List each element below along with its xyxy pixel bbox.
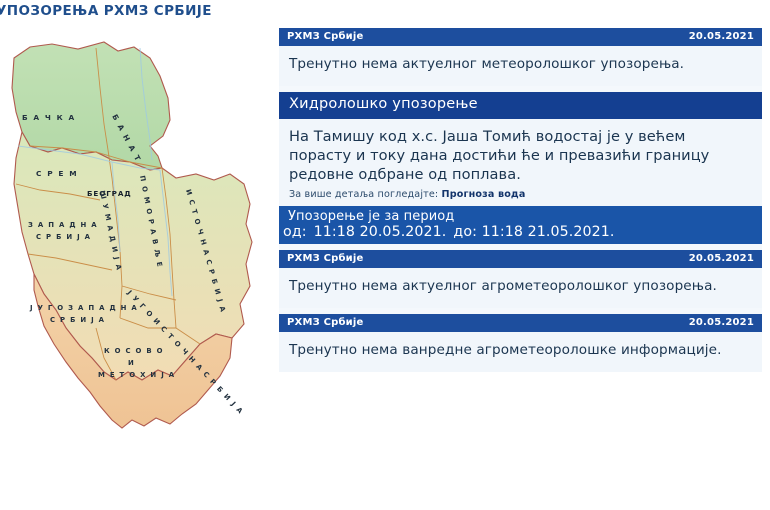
meteo-warning-text: Тренутно нема актуелног метеоролошког уп… [279,46,762,86]
page-title: УПОЗОРЕЊА РХМЗ СРБИЈЕ [0,3,212,19]
hydro-period-heading: Упозорење је за период [283,209,754,224]
meteo-warning-block: РХМЗ Србије 20.05.2021 Тренутно нема акт… [279,28,762,86]
map-label-zapadna-srbija-line2: С Р Б И Ј А [36,233,91,241]
agrometeo-date: 20.05.2021 [689,253,754,264]
agrometeo-warning-block: РХМЗ Србије 20.05.2021 Тренутно нема акт… [279,250,762,308]
map-label-srem: С Р Е М [36,169,78,178]
hydro-warning-block: Хидролошко упозорење На Тамишу код х.с. … [279,92,762,244]
meteo-date: 20.05.2021 [689,31,754,42]
meteo-source-label: РХМЗ Србије [287,31,363,42]
agroinfo-source-label: РХМЗ Србије [287,317,363,328]
map-label-backa: Б А Ч К А [22,113,76,122]
hydro-period-box: Упозорење је за период од:11:18 20.05.20… [279,206,762,245]
map-label-kosovo-line2: И [128,359,135,367]
agroinfo-date: 20.05.2021 [689,317,754,328]
map-label-jugozapadna-srbija-line2: С Р Б И Ј А [50,316,105,324]
serbia-regions-map: Б А Ч К А Б А Н А Т С Р Е М БЕОГРАД З А … [0,28,272,438]
meteo-header-bar: РХМЗ Србије 20.05.2021 [279,28,762,46]
hydro-period-to-value: 11:18 21.05.2021. [482,224,615,240]
agrometeo-header-bar: РХМЗ Србије 20.05.2021 [279,250,762,268]
hydro-period-to-label: до: [453,224,477,240]
hydro-period-range: од:11:18 20.05.2021.до: 11:18 21.05.2021… [283,224,754,241]
agroinfo-header-bar: РХМЗ Србије 20.05.2021 [279,314,762,332]
hydro-warning-text: На Тамишу код х.с. Јаша Томић водостај ј… [279,119,762,187]
warnings-panel: РХМЗ Србије 20.05.2021 Тренутно нема акт… [279,28,762,372]
map-label-kosovo-line3: М Е Т О Х И Ј А [98,371,175,379]
agroinfo-block: РХМЗ Србије 20.05.2021 Тренутно нема ван… [279,314,762,372]
agrometeo-warning-text: Тренутно нема актуелног агрометеоролошко… [279,268,762,308]
map-label-zapadna-srbija-line1: З А П А Д Н А [28,221,98,229]
hydro-more-prefix: За више детаља погледајте: [289,189,438,200]
agrometeo-source-label: РХМЗ Србије [287,253,363,264]
hydro-period-from-value: 11:18 20.05.2021. [314,224,447,240]
hydro-period-from-label: од: [283,224,307,240]
map-label-jugozapadna-srbija-line1: Ј У Г О З А П А Д Н А [29,304,138,312]
hydro-header-bar: Хидролошко упозорење [279,92,762,119]
agroinfo-text: Тренутно нема ванредне агрометеоролошке … [279,332,762,372]
hydro-more-details: За више детаља погледајте: Прогноза вода [279,187,762,206]
map-label-beograd: БЕОГРАД [87,189,132,198]
map-label-kosovo-line1: К О С О В О [104,347,164,355]
forecast-water-link[interactable]: Прогноза вода [442,189,526,200]
